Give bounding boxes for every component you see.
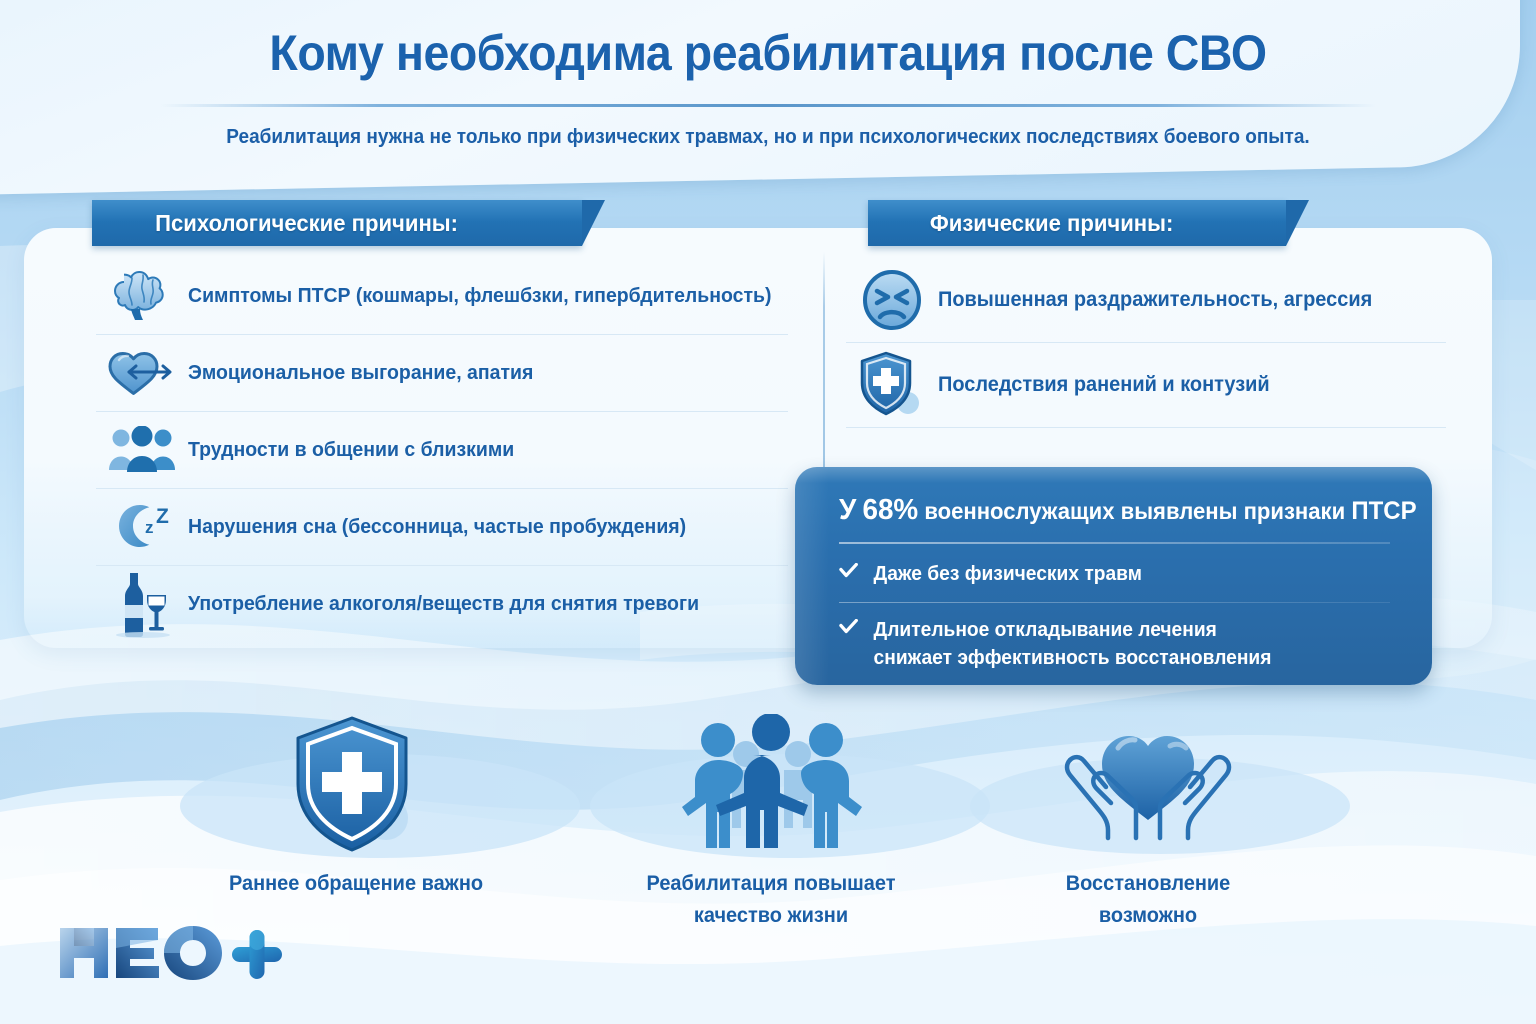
- statistics-headline: У 68% военнослужащих выявлены признаки П…: [839, 494, 1381, 527]
- feature-item: Восстановление возможно: [978, 706, 1318, 931]
- feature-caption: Раннее обращение важно: [195, 868, 518, 900]
- svg-text:Z: Z: [156, 505, 169, 528]
- statistics-bullet-line: Даже без физических травм: [874, 560, 1142, 588]
- angry-face-icon: [846, 269, 938, 331]
- shield-cross-icon: [846, 354, 938, 416]
- people-team-icon: [601, 706, 941, 854]
- section-banner-physical: Физические причины:: [868, 200, 1286, 246]
- moon-sleep-icon: z Z: [96, 496, 188, 558]
- bottle-glass-icon: [96, 573, 188, 635]
- list-item: Трудности в общении с близкими: [96, 412, 788, 489]
- feature-caption-line2: возможно: [1099, 904, 1197, 927]
- statistics-bullet: Даже без физических травм: [839, 560, 1379, 588]
- feature-caption: Реабилитация повышает качество жизни: [610, 868, 933, 931]
- statistics-bullet-line: снижает эффективность восстановления: [874, 644, 1272, 672]
- statistics-card: У 68% военнослужащих выявлены признаки П…: [795, 467, 1432, 685]
- list-item: Эмоциональное выгорание, апатия: [96, 335, 788, 412]
- feature-caption-line1: Реабилитация повышает: [647, 872, 896, 895]
- section-banner-physical-label: Физические причины:: [874, 210, 1173, 237]
- section-banner-psychological-label: Психологические причины:: [99, 210, 458, 237]
- page-title: Кому необходима реабилитация после СВО: [54, 24, 1482, 82]
- shield-cross-icon: [186, 706, 526, 854]
- feature-caption-line1: Раннее обращение важно: [229, 872, 483, 895]
- section-banner-psychological: Психологические причины:: [92, 200, 582, 246]
- list-item-label: Симптомы ПТСР (кошмары, флешбзки, гиперб…: [188, 284, 771, 308]
- feature-caption-line2: качество жизни: [694, 904, 848, 927]
- feature-caption: Восстановление возможно: [987, 868, 1310, 931]
- people-group-icon: [96, 419, 188, 481]
- feature-item: Реабилитация повышает качество жизни: [601, 706, 941, 931]
- list-item: z Z Нарушения сна (бессонница, частые пр…: [96, 489, 788, 566]
- statistics-bullet-line: Длительное откладывание лечения: [874, 616, 1272, 644]
- list-item: Употребление алкоголя/веществ для снятия…: [96, 566, 788, 642]
- hands-heart-icon: [978, 706, 1318, 854]
- statistics-bullet: Длительное откладывание лечения снижает …: [839, 616, 1379, 673]
- statistics-headline-suffix: ПТСР: [1351, 497, 1416, 525]
- psychological-causes-list: Симптомы ПТСР (кошмары, флешбзки, гиперб…: [96, 258, 788, 642]
- infographic-root: Кому необходима реабилитация после СВО Р…: [0, 0, 1536, 1024]
- statistics-headline-middle: военнослужащих выявлены признаки: [924, 498, 1345, 524]
- statistics-headline-prefix: У: [839, 494, 856, 526]
- check-icon: [839, 562, 858, 585]
- list-item-label: Последствия ранений и контузий: [938, 373, 1270, 397]
- header-content: Кому необходима реабилитация после СВО Р…: [0, 0, 1536, 190]
- list-item-label: Трудности в общении с близкими: [188, 438, 514, 462]
- feature-row: Раннее обращение важно: [0, 706, 1536, 936]
- list-item-label: Эмоциональное выгорание, апатия: [188, 361, 533, 385]
- statistics-divider: [839, 542, 1390, 544]
- list-item-label: Повышенная раздражительность, агрессия: [938, 288, 1372, 312]
- feature-item: Раннее обращение важно: [186, 706, 526, 900]
- brand-logo: [56, 922, 286, 984]
- brain-icon: [96, 265, 188, 327]
- page-subtitle: Реабилитация нужна не только при физичес…: [38, 126, 1497, 149]
- feature-caption-line1: Восстановление: [1066, 872, 1231, 895]
- check-icon: [839, 618, 858, 641]
- statistics-value: 68%: [862, 494, 918, 526]
- svg-text:z: z: [145, 518, 154, 537]
- title-divider: [160, 104, 1376, 107]
- list-item-label: Употребление алкоголя/веществ для снятия…: [188, 592, 699, 616]
- list-item: Симптомы ПТСР (кошмары, флешбзки, гиперб…: [96, 258, 788, 335]
- statistics-bullet-divider: [839, 602, 1390, 603]
- list-item: Повышенная раздражительность, агрессия: [846, 258, 1446, 343]
- list-item-label: Нарушения сна (бессонница, частые пробуж…: [188, 515, 686, 539]
- heart-burnout-icon: [96, 342, 188, 404]
- physical-causes-list: Повышенная раздражительность, агрессия П…: [846, 258, 1446, 428]
- list-item: Последствия ранений и контузий: [846, 343, 1446, 428]
